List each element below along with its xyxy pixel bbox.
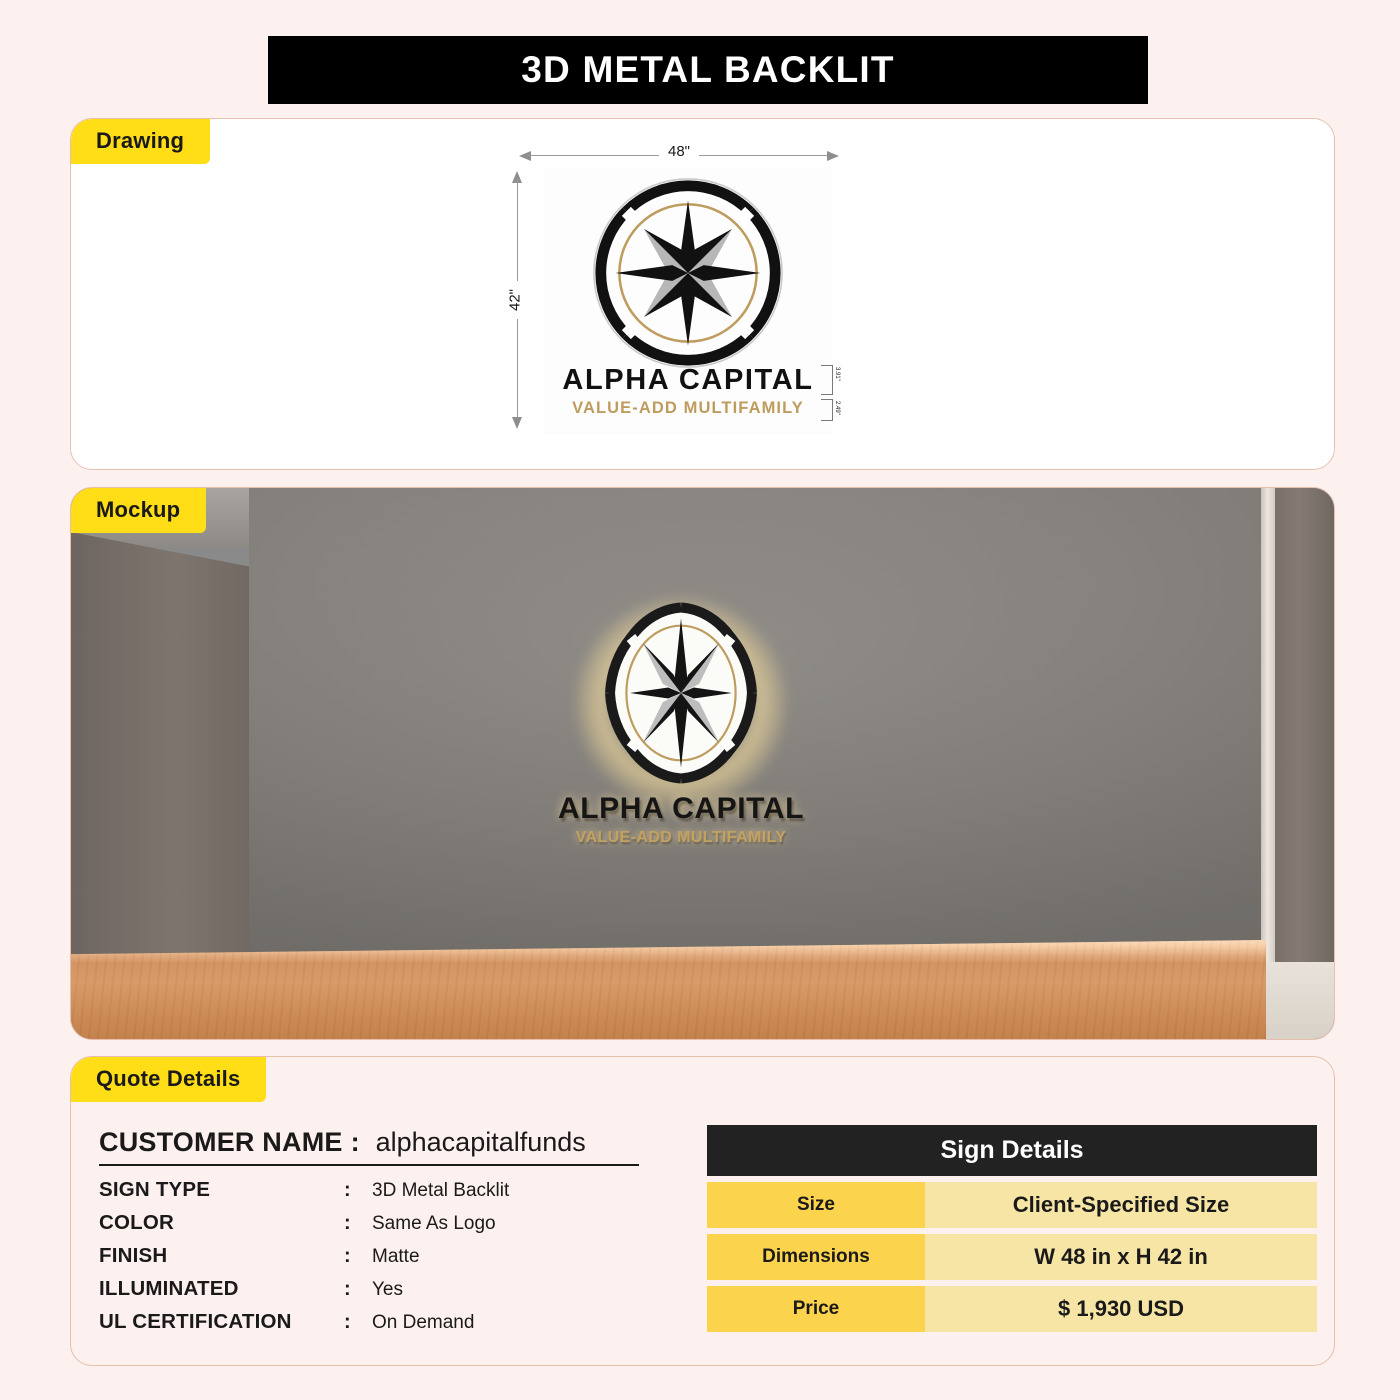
spec-value: Matte: [372, 1246, 420, 1268]
page-title: 3D METAL BACKLIT: [521, 49, 894, 91]
name-height-bracket: [821, 365, 833, 395]
sign-artboard: ALPHA CAPITAL VALUE-ADD MULTIFAMILY 3.91…: [543, 169, 833, 434]
spec-label: ILLUMINATED: [99, 1277, 344, 1301]
height-dimension-label: 42": [503, 281, 528, 319]
row-value-dimensions: W 48 in x H 42 in: [925, 1234, 1317, 1280]
quote-details-tab-label: Quote Details: [70, 1056, 266, 1102]
spec-list: SIGN TYPE : 3D Metal Backlit COLOR : Sam…: [99, 1178, 707, 1343]
drawing-section-card: Drawing 48" 42": [70, 118, 1335, 470]
spec-row-finish: FINISH : Matte: [99, 1244, 707, 1277]
spec-label: SIGN TYPE: [99, 1178, 344, 1202]
sign-details-heading: Sign Details: [707, 1125, 1317, 1176]
logo-tagline: VALUE-ADD MULTIFAMILY: [543, 398, 833, 419]
table-row: Size Client-Specified Size: [707, 1182, 1317, 1228]
mockup-tab-label: Mockup: [70, 487, 206, 533]
customer-name-label: CUSTOMER NAME: [99, 1127, 343, 1158]
wall-trim-strip: [1261, 488, 1275, 990]
spec-value: On Demand: [372, 1312, 474, 1334]
arrow-down-icon: [512, 417, 522, 429]
colon-separator: :: [344, 1212, 372, 1235]
row-value-size: Client-Specified Size: [925, 1182, 1317, 1228]
mockup-section-card: Mockup: [70, 487, 1335, 1040]
compass-rose-logo-icon: [590, 602, 772, 784]
logo-company-name: ALPHA CAPITAL: [531, 792, 831, 826]
width-dimension-line: 48": [519, 147, 839, 163]
spec-label: FINISH: [99, 1244, 344, 1268]
spec-row-sign-type: SIGN TYPE : 3D Metal Backlit: [99, 1178, 707, 1211]
drawing-canvas: 48" 42": [71, 119, 1334, 469]
customer-specs-panel: CUSTOMER NAME : alphacapitalfunds SIGN T…: [71, 1113, 707, 1343]
colon-separator: :: [351, 1127, 360, 1158]
customer-name-value: alphacapitalfunds: [376, 1127, 586, 1158]
spec-label: COLOR: [99, 1211, 344, 1235]
row-key-dimensions: Dimensions: [707, 1234, 925, 1280]
spec-label: UL CERTIFICATION: [99, 1310, 344, 1334]
logo-tagline: VALUE-ADD MULTIFAMILY: [531, 829, 831, 847]
left-wall-panel: [71, 532, 263, 996]
row-key-size: Size: [707, 1182, 925, 1228]
customer-name-row: CUSTOMER NAME : alphacapitalfunds: [99, 1127, 639, 1166]
quote-details-body: CUSTOMER NAME : alphacapitalfunds SIGN T…: [71, 1113, 1334, 1343]
drawing-technical-view: 48" 42": [481, 125, 881, 465]
compass-rose-logo-icon: [590, 175, 786, 371]
spec-value: Yes: [372, 1279, 403, 1301]
row-value-price: $ 1,930 USD: [925, 1286, 1317, 1332]
page-header-banner: 3D METAL BACKLIT: [268, 36, 1148, 104]
arrow-right-icon: [827, 151, 839, 161]
table-header-row: Sign Details: [707, 1125, 1317, 1176]
interior-scene-image: ALPHA CAPITAL VALUE-ADD MULTIFAMILY: [71, 488, 1334, 1039]
table-row: Price $ 1,930 USD: [707, 1286, 1317, 1332]
spec-value: Same As Logo: [372, 1213, 496, 1235]
colon-separator: :: [344, 1179, 372, 1202]
colon-separator: :: [344, 1245, 372, 1268]
tagline-height-bracket: [821, 399, 833, 421]
quote-details-section-card: Quote Details CUSTOMER NAME : alphacapit…: [70, 1056, 1335, 1366]
width-dimension-label: 48": [659, 143, 699, 160]
logo-company-name: ALPHA CAPITAL: [543, 365, 833, 397]
height-dimension-line: 42": [509, 171, 525, 429]
spec-row-illuminated: ILLUMINATED : Yes: [99, 1277, 707, 1310]
colon-separator: :: [344, 1278, 372, 1301]
spec-value: 3D Metal Backlit: [372, 1180, 509, 1202]
sign-details-panel: Sign Details Size Client-Specified Size …: [707, 1113, 1317, 1343]
logo-wordmark-block: ALPHA CAPITAL VALUE-ADD MULTIFAMILY: [531, 792, 831, 847]
tagline-height-label: 2.49": [834, 401, 840, 415]
name-height-label: 3.91": [834, 367, 840, 381]
spec-row-color: COLOR : Same As Logo: [99, 1211, 707, 1244]
colon-separator: :: [344, 1311, 372, 1334]
table-row: Dimensions W 48 in x H 42 in: [707, 1234, 1317, 1280]
backlit-sign-on-wall: ALPHA CAPITAL VALUE-ADD MULTIFAMILY: [531, 588, 831, 918]
wooden-reception-desk: [71, 940, 1266, 1040]
logo-wordmark-block: ALPHA CAPITAL VALUE-ADD MULTIFAMILY: [543, 365, 833, 419]
row-key-price: Price: [707, 1286, 925, 1332]
drawing-tab-label: Drawing: [70, 118, 210, 164]
right-wall-panel: [1275, 488, 1335, 988]
spec-row-ul-certification: UL CERTIFICATION : On Demand: [99, 1310, 707, 1343]
sign-details-table: Sign Details Size Client-Specified Size …: [707, 1119, 1317, 1338]
